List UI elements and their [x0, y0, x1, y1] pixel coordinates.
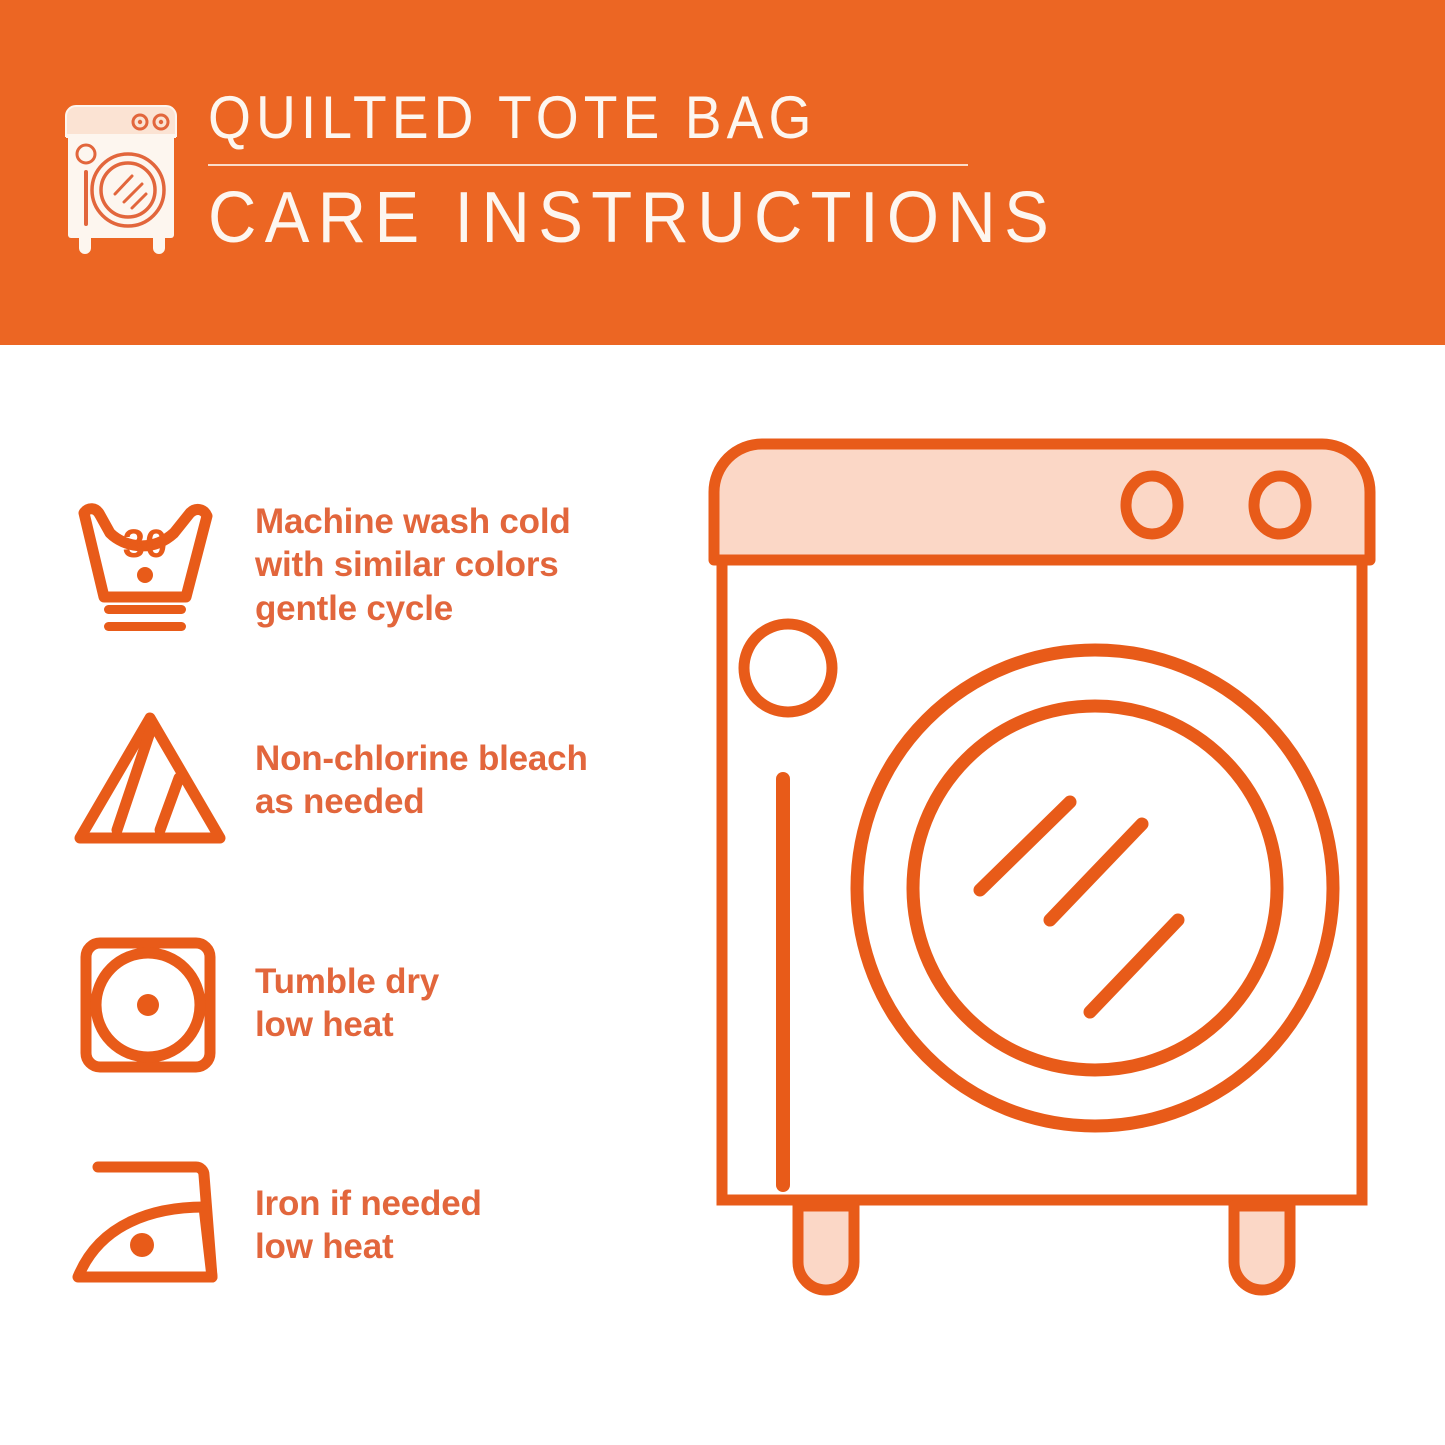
wash-temperature-value: 30 [123, 522, 168, 566]
leg-left [798, 1206, 854, 1290]
page-title: QUILTED TOTE BAG [208, 88, 1048, 162]
washer-graphic [700, 420, 1400, 1350]
care-label-bleach: Non-chlorine bleach as needed [255, 737, 588, 824]
title-divider [208, 164, 968, 166]
washing-machine-icon [62, 98, 180, 258]
care-row-iron: Iron if needed low heat [62, 1145, 682, 1305]
leg-right [1234, 1206, 1290, 1290]
iron-low-heat-icon [62, 1145, 237, 1305]
bleach-triangle-non-chlorine-icon [62, 700, 237, 860]
control-panel [714, 444, 1370, 560]
header-title-block: QUILTED TOTE BAG CARE INSTRUCTIONS [208, 88, 1121, 254]
page-subtitle: CARE INSTRUCTIONS [208, 176, 1057, 254]
washing-machine-illustration [700, 420, 1445, 1420]
care-label-machine-wash: Machine wash cold with similar colors ge… [255, 500, 571, 630]
care-label-line: low heat [255, 1003, 439, 1046]
care-row-bleach: Non-chlorine bleach as needed [62, 700, 682, 860]
care-label-line: gentle cycle [255, 587, 571, 630]
care-label-line: Non-chlorine bleach [255, 737, 588, 780]
header-content: QUILTED TOTE BAG CARE INSTRUCTIONS [62, 88, 1121, 258]
care-instructions-list: 30 Machine wash cold with similar colors… [0, 345, 700, 1445]
handle-bar [776, 772, 790, 1192]
care-label-line: with similar colors [255, 543, 571, 586]
care-label-iron: Iron if needed low heat [255, 1182, 482, 1269]
care-label-line: low heat [255, 1225, 482, 1268]
wash-tub-30-gentle-icon: 30 [62, 485, 237, 645]
header-banner: QUILTED TOTE BAG CARE INSTRUCTIONS [0, 0, 1445, 345]
care-label-line: Iron if needed [255, 1182, 482, 1225]
care-row-tumble-dry: Tumble dry low heat [62, 923, 682, 1083]
care-label-line: Machine wash cold [255, 500, 571, 543]
tumble-dry-low-heat-icon [62, 923, 237, 1083]
care-label-line: Tumble dry [255, 960, 439, 1003]
care-row-machine-wash: 30 Machine wash cold with similar colors… [62, 485, 682, 645]
care-label-tumble-dry: Tumble dry low heat [255, 960, 439, 1047]
care-label-line: as needed [255, 780, 588, 823]
